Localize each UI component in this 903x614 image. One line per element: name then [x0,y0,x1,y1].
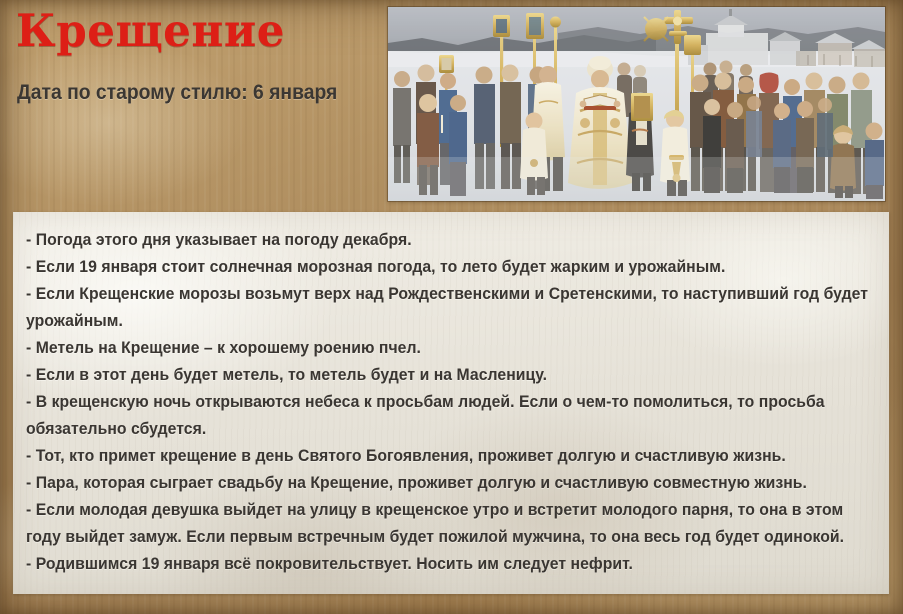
omens-list: - Погода этого дня указывает на погоду д… [26,227,877,578]
list-item: - Если Крещенские морозы возьмут верх на… [26,281,877,335]
epiphany-procession-painting [388,7,885,201]
list-item: - Если молодая девушка выйдет на улицу в… [26,497,877,551]
list-item: - Метель на Крещение – к хорошему роению… [26,335,877,362]
list-item: - Если 19 января стоит солнечная морозна… [26,254,877,281]
list-item: - В крещенскую ночь открываются небеса к… [26,389,877,443]
list-item: - Пара, которая сыграет свадьбу на Креще… [26,470,877,497]
list-item: - Тот, кто примет крещение в день Святог… [26,443,877,470]
slide-background: Крещение Дата по старому стилю: 6 января [0,0,903,614]
list-item: - Если в этот день будет метель, то мете… [26,362,877,389]
old-style-date-subtitle: Дата по старому стилю: 6 января [17,81,337,104]
painting-artwork [388,7,885,201]
page-title: Крещение [16,8,285,54]
list-item: - Погода этого дня указывает на погоду д… [26,227,877,254]
list-item: - Родившимся 19 января всё покровительст… [26,551,877,578]
header: Крещение Дата по старому стилю: 6 января [0,0,385,205]
omens-panel: - Погода этого дня указывает на погоду д… [13,212,889,594]
